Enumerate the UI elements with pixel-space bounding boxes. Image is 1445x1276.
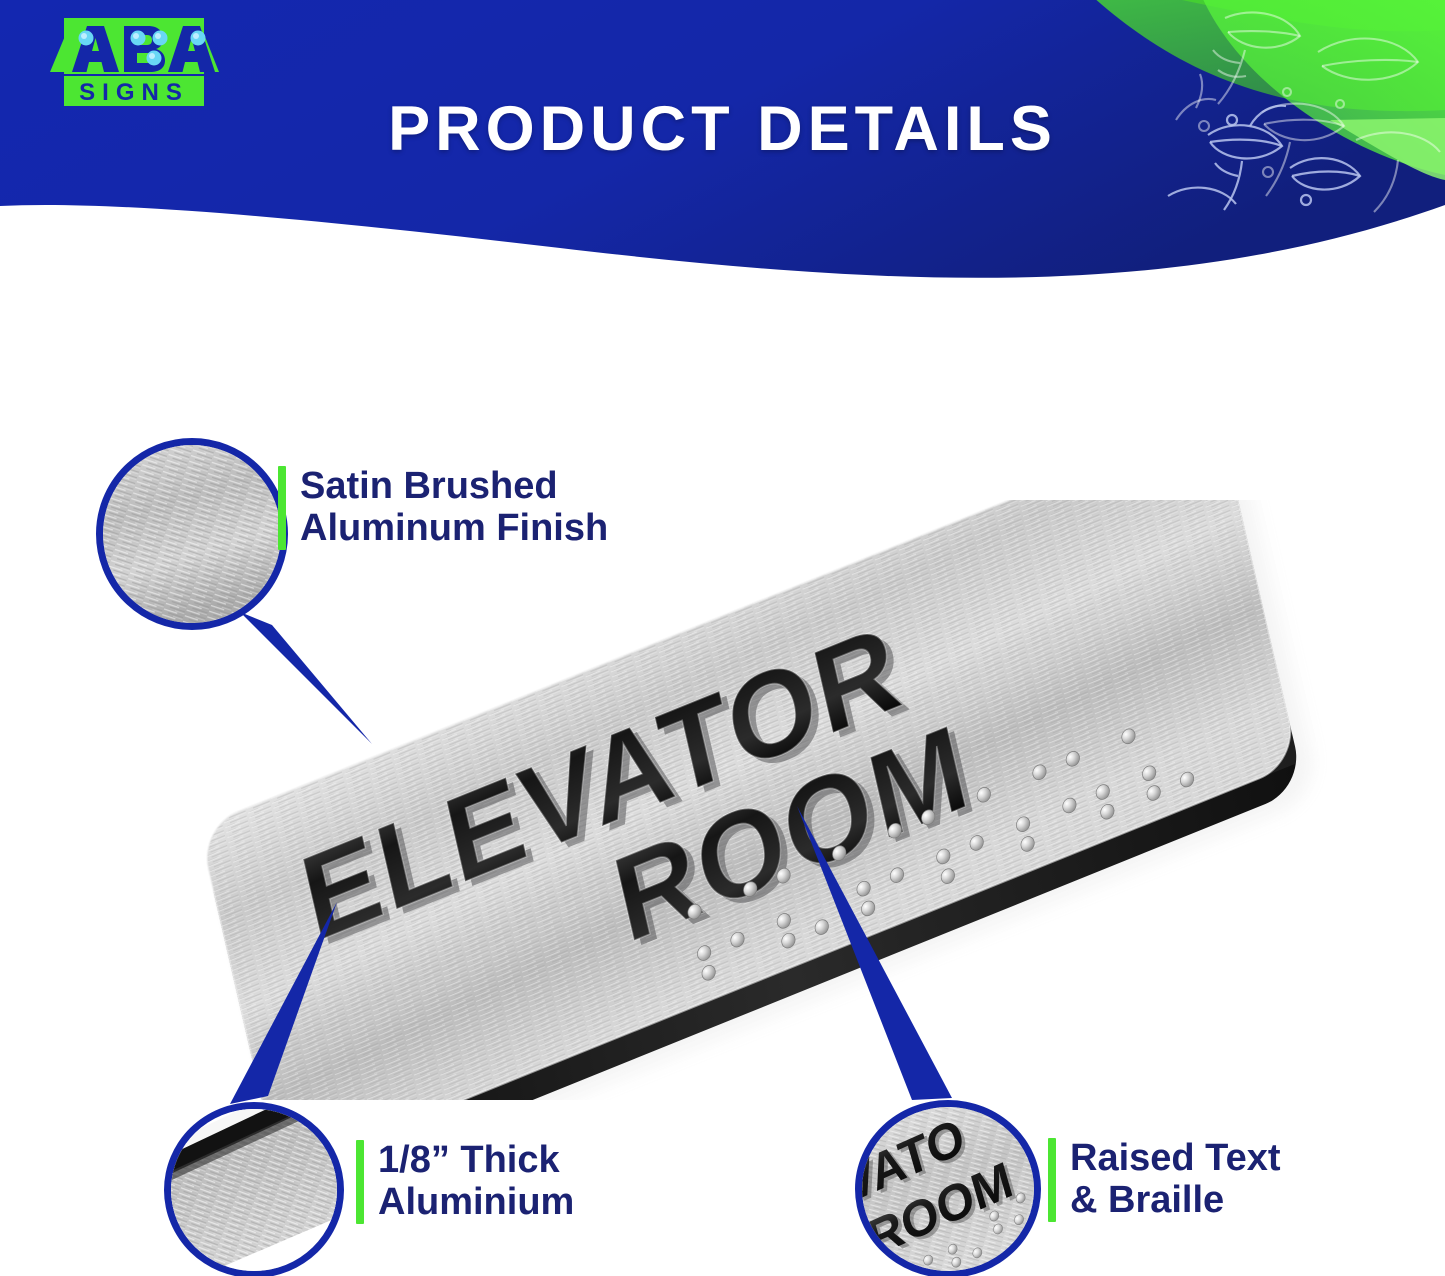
callout-text-raised-text: Raised Text & Braille — [1070, 1138, 1280, 1222]
callout-text-satin-finish: Satin Brushed Aluminum Finish — [300, 466, 608, 550]
callout-label-raised-text: Raised Text & Braille — [1048, 1138, 1280, 1222]
callout-circle-thickness[interactable] — [164, 1102, 344, 1276]
brushed-metal-swatch-icon — [103, 445, 281, 623]
callout-circle-satin-finish[interactable] — [96, 438, 288, 630]
accent-bar-icon — [356, 1140, 364, 1224]
logo-subtitle: SIGNS — [79, 79, 189, 106]
edge-profile-swatch-icon — [171, 1109, 337, 1271]
callout-label-satin-finish: Satin Brushed Aluminum Finish — [278, 466, 608, 550]
accent-bar-icon — [278, 466, 286, 550]
header-banner: PRODUCT DETAILS — [0, 0, 1445, 300]
callout-text-thickness: 1/8” Thick Aluminium — [378, 1140, 574, 1224]
brand-logo[interactable]: SIGNS — [42, 10, 227, 110]
infographic-canvas: PRODUCT DETAILS — [0, 0, 1445, 1276]
accent-bar-icon — [1048, 1138, 1056, 1222]
raised-text-closeup-icon: VATO VATO ROOM ROOM — [862, 1107, 1034, 1271]
product-sign-image: ELEVATOR ELEVATOR ELEVATOR ROOM ROOM ROO… — [120, 500, 1390, 1100]
callout-label-thickness: 1/8” Thick Aluminium — [356, 1140, 574, 1224]
callout-circle-raised-text[interactable]: VATO VATO ROOM ROOM — [855, 1100, 1041, 1276]
